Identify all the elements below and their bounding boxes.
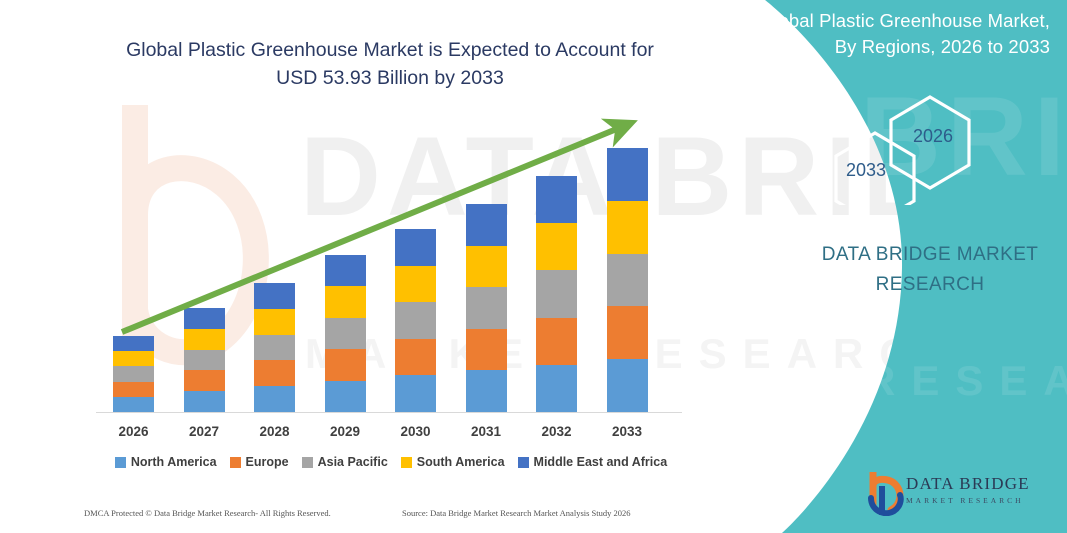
logo-title: DATA BRIDGE [906, 474, 1030, 494]
legend-label: Asia Pacific [318, 455, 388, 469]
bar-segment [254, 386, 295, 412]
legend-swatch-icon [518, 457, 529, 468]
bar-segment [184, 308, 225, 329]
bar-segment [536, 223, 577, 270]
legend-swatch-icon [230, 457, 241, 468]
panel-title-line1: Global Plastic Greenhouse Market, [725, 8, 1050, 34]
bar-segment [325, 349, 366, 380]
panel-brand-line1: DATA BRIDGE MARKET [790, 240, 1067, 270]
bar-segment [466, 287, 507, 329]
bar-segment [536, 365, 577, 412]
bar-segment [184, 370, 225, 391]
x-axis-label: 2029 [315, 424, 375, 439]
legend-item[interactable]: Middle East and Africa [518, 455, 668, 469]
legend-label: Middle East and Africa [534, 455, 668, 469]
x-axis-label: 2030 [386, 424, 446, 439]
bar-segment [184, 391, 225, 412]
footer-copyright: DMCA Protected © Data Bridge Market Rese… [84, 508, 331, 518]
x-axis-label: 2028 [245, 424, 305, 439]
panel-title-line2: By Regions, 2026 to 2033 [725, 34, 1050, 60]
bar-segment [536, 318, 577, 365]
legend-swatch-icon [401, 457, 412, 468]
logo-subtitle: MARKET RESEARCH [906, 496, 1030, 505]
bar-segment [607, 148, 648, 201]
infographic-canvas: DATA BRIDGE MARKET RESEARCH Global Plast… [0, 0, 1067, 533]
bar-segment [184, 350, 225, 371]
panel-brand-text: DATA BRIDGE MARKET RESEARCH [790, 240, 1067, 300]
bar-segment [607, 201, 648, 254]
legend-label: Europe [246, 455, 289, 469]
x-axis-label: 2033 [597, 424, 657, 439]
bar-segment [113, 382, 154, 397]
bar-segment [466, 370, 507, 412]
x-axis-label: 2032 [527, 424, 587, 439]
bar-segment [325, 255, 366, 286]
stacked-bar-chart: 20262027202820292030203120322033 [0, 0, 700, 470]
panel-brand-line2: RESEARCH [790, 270, 1067, 300]
bar-segment [113, 336, 154, 351]
bar-segment [395, 339, 436, 376]
bar-segment [607, 306, 648, 359]
legend-item[interactable]: Europe [230, 455, 289, 469]
bar-segment [536, 270, 577, 317]
bar-segment [113, 351, 154, 366]
bar-segment [113, 366, 154, 381]
bar-segment [466, 329, 507, 371]
bar-segment [536, 176, 577, 223]
panel-title: Global Plastic Greenhouse Market, By Reg… [725, 8, 1050, 60]
legend-item[interactable]: Asia Pacific [302, 455, 388, 469]
legend-swatch-icon [115, 457, 126, 468]
bar-segment [395, 302, 436, 339]
bar-segment [113, 397, 154, 412]
hexagon-group [830, 95, 1010, 205]
bar-segment [325, 318, 366, 349]
footer-source: Source: Data Bridge Market Research Mark… [402, 508, 631, 518]
bar-segment [395, 229, 436, 266]
chart-baseline [96, 412, 682, 413]
x-axis-label: 2031 [456, 424, 516, 439]
bar-segment [325, 286, 366, 317]
data-bridge-logo: DATA BRIDGE MARKET RESEARCH [866, 472, 1046, 518]
legend-item[interactable]: South America [401, 455, 505, 469]
bar-segment [254, 309, 295, 335]
svg-text:RESEARCH: RESEARCH [865, 357, 1067, 404]
legend-label: South America [417, 455, 505, 469]
bar-segment [607, 359, 648, 412]
bar-segment [254, 360, 295, 386]
logo-text-block: DATA BRIDGE MARKET RESEARCH [906, 474, 1030, 505]
chart-legend: North AmericaEuropeAsia PacificSouth Ame… [96, 455, 686, 469]
bar-segment [607, 254, 648, 307]
x-axis-label: 2026 [104, 424, 164, 439]
legend-swatch-icon [302, 457, 313, 468]
legend-item[interactable]: North America [115, 455, 217, 469]
bar-segment [395, 266, 436, 303]
hexagon-2033-label: 2033 [846, 160, 886, 181]
bar-segment [466, 204, 507, 246]
bar-segment [466, 246, 507, 288]
bar-segment [325, 381, 366, 412]
x-axis-label: 2027 [174, 424, 234, 439]
bar-segment [184, 329, 225, 350]
bar-segment [395, 375, 436, 412]
bar-segment [254, 335, 295, 361]
legend-label: North America [131, 455, 217, 469]
bar-segment [254, 283, 295, 309]
hexagon-2026-label: 2026 [913, 126, 953, 147]
logo-mark-icon [866, 472, 906, 516]
